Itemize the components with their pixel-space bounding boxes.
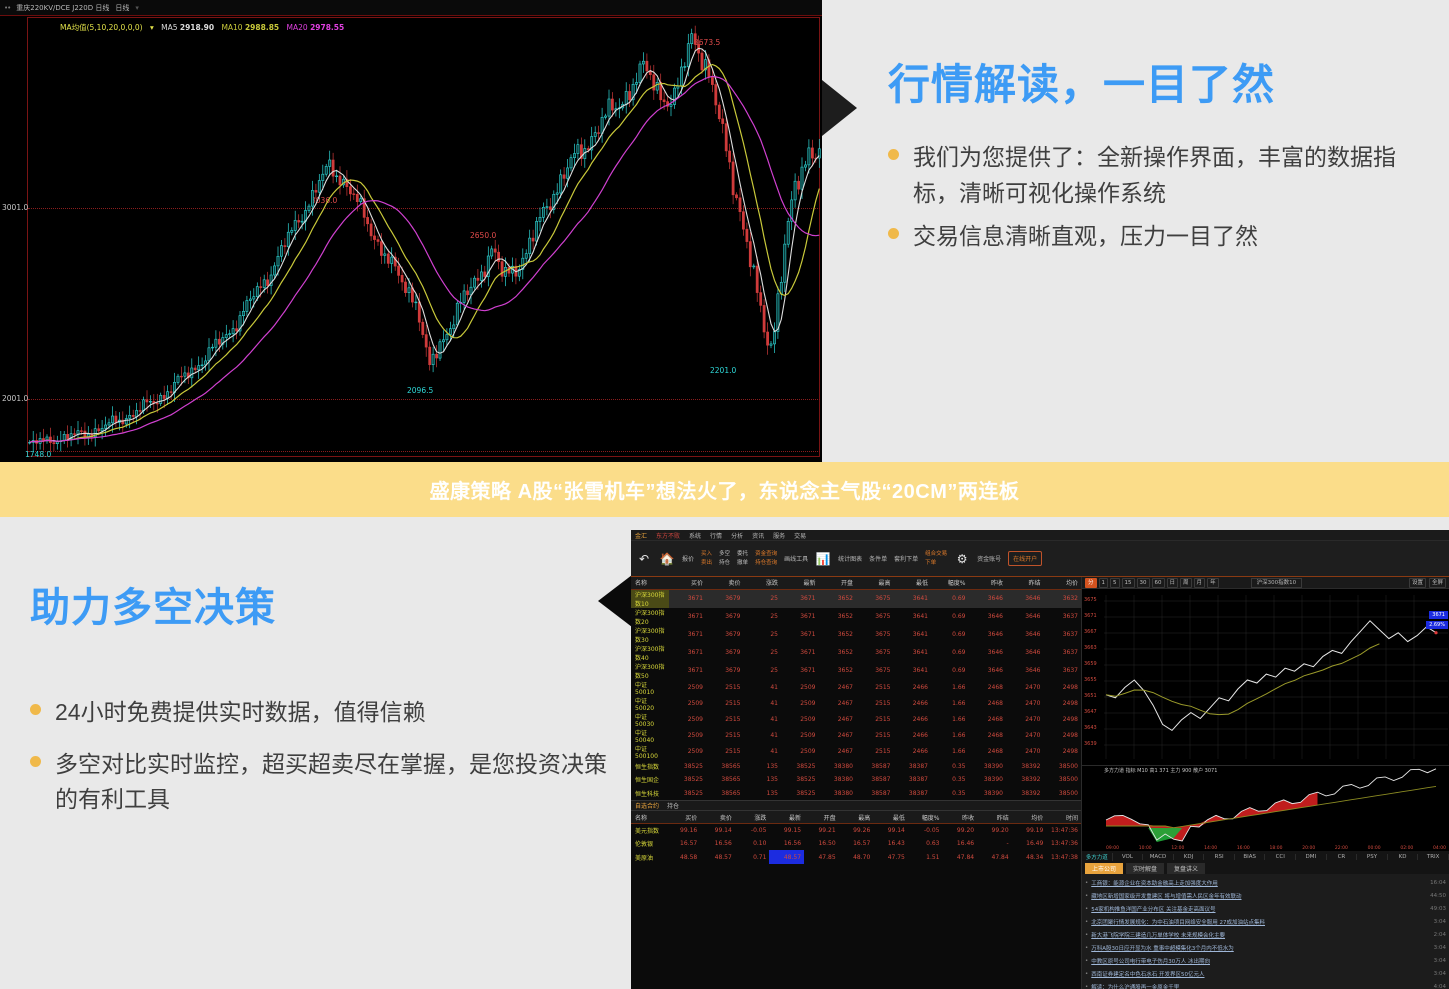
toolbar-order-button[interactable]: 下单: [925, 559, 947, 567]
news-tab-bar[interactable]: 上市公司 实时解盘 复盘讲义: [1082, 862, 1449, 874]
indicator-tab-bar[interactable]: 多方力道VOLMACDKDJRSIBIASCCIDMICRPSYKDTRIX: [1082, 851, 1449, 862]
section2-bullets: 24小时免费提供实时数据，值得信赖 多空对比实时监控，超买超卖尽在掌握，是您投资…: [30, 695, 610, 818]
column-header[interactable]: 买价: [669, 577, 707, 589]
toolbar-longshort-button[interactable]: 多空: [719, 550, 730, 558]
cell-value: 2468: [969, 712, 1007, 728]
column-header[interactable]: 最高: [839, 811, 874, 823]
price-tick-label: 3671: [1084, 613, 1097, 619]
column-header[interactable]: 幅度%: [931, 577, 969, 589]
cell-value: 38525: [781, 760, 819, 774]
chart-symbol-label[interactable]: 沪深300指数10: [1251, 578, 1303, 588]
list-item[interactable]: • 中教区原号公司电行带电子伤月30万人 冰出期向 3:04: [1085, 954, 1446, 967]
cell-value: 16.49: [1012, 837, 1047, 851]
section2-text-block: 助力多空决策 24小时免费提供实时数据，值得信赖 多空对比实时监控，超买超卖尽在…: [30, 575, 610, 834]
indicator-tab-RSI[interactable]: RSI: [1204, 854, 1235, 860]
cell-value: 16.46: [942, 837, 977, 851]
cell-value: 1.51: [908, 850, 943, 864]
column-header[interactable]: 时间: [1046, 811, 1081, 823]
cell-name: 中证50030: [631, 712, 669, 728]
table-row[interactable]: 沪深300指数10367136792536713652367536410.693…: [631, 589, 1081, 608]
indicator-tab-PSY[interactable]: PSY: [1357, 854, 1388, 860]
toolbar-holding-button[interactable]: 持仓: [719, 559, 730, 567]
bullet-text: 我们为您提供了：全新操作界面，丰富的数据指标，清晰可视化操作系统: [913, 140, 1433, 211]
cell-value: 16.50: [804, 837, 839, 851]
news-time: 4:04: [1434, 984, 1446, 989]
column-header[interactable]: 卖价: [700, 811, 735, 823]
timeframe-日-button[interactable]: 日: [1167, 578, 1179, 588]
cell-value: 2515: [856, 680, 894, 696]
cell-value: 38392: [1006, 760, 1044, 774]
cell-value: 0.69: [931, 662, 969, 680]
cell-value: 2498: [1044, 696, 1082, 712]
change-pct-badge: 2.69%: [1426, 621, 1448, 629]
menu-item-trade[interactable]: 交易: [794, 531, 806, 540]
cell-value: 38392: [1006, 773, 1044, 787]
cell-name: 沪深300指数50: [631, 662, 669, 680]
table-row[interactable]: 恒生国企3852538565135385253838038587383870.3…: [631, 773, 1081, 787]
column-header[interactable]: 最新: [781, 577, 819, 589]
cell-value: 2467: [819, 712, 857, 728]
toolbar-combo-group[interactable]: 组合交易 下单: [925, 550, 947, 567]
tab-review-notes[interactable]: 复盘讲义: [1167, 863, 1205, 874]
news-time: 3:04: [1434, 958, 1446, 964]
price-tick-label: 3675: [1084, 597, 1097, 603]
column-header[interactable]: 开盘: [804, 811, 839, 823]
list-item[interactable]: • 新大港飞院学院三建造几万单体学校 未来规模会化主要 2:04: [1085, 928, 1446, 941]
menu-item-service[interactable]: 服务: [773, 531, 785, 540]
toolbar-query-group[interactable]: 资金查询 持仓查询: [755, 550, 777, 567]
cell-value: 2509: [781, 680, 819, 696]
column-header[interactable]: 均价: [1012, 811, 1047, 823]
cell-value: 3632: [1044, 589, 1082, 608]
chart-title: 重庆220KV/DCE J220D 日线: [16, 3, 109, 13]
settings-icon[interactable]: 设置: [1409, 578, 1426, 588]
toolbar-position-group[interactable]: 多空 持仓: [719, 550, 730, 567]
chart-icon[interactable]: 📊: [815, 551, 831, 567]
cell-name: 中证50020: [631, 696, 669, 712]
news-title[interactable]: 工商银：能源企业在资本助金融高上走加强度大作用: [1091, 879, 1430, 887]
table-row[interactable]: 中证50010250925154125092467251524661.66246…: [631, 680, 1081, 696]
cell-value: 13:47:36: [1046, 823, 1081, 837]
table-row[interactable]: 中证50020250925154125092467251524661.66246…: [631, 696, 1081, 712]
cell-value: 38500: [1044, 760, 1082, 774]
cell-value: 2470: [1006, 712, 1044, 728]
list-item: 交易信息清晰直观，压力一目了然: [888, 219, 1433, 255]
news-title[interactable]: 藏地区新增国家级开发重建区 将与增值需人民区金年有效联动: [1091, 892, 1430, 900]
toolbar-condition-order-button[interactable]: 条件单: [869, 554, 887, 563]
chart-tools-right[interactable]: 设置 全屏: [1409, 578, 1449, 588]
timeframe-年-button[interactable]: 年: [1207, 578, 1219, 588]
column-header[interactable]: 名称: [631, 811, 666, 823]
column-header[interactable]: 均价: [1044, 577, 1082, 589]
cell-value: 3641: [894, 608, 932, 626]
indicator-tab-MACD[interactable]: MACD: [1143, 854, 1174, 860]
cell-value: 38387: [894, 787, 932, 801]
column-header[interactable]: 最新: [769, 811, 804, 823]
cell-value: 3675: [856, 662, 894, 680]
column-header[interactable]: 昨结: [977, 811, 1012, 823]
cell-value: 2498: [1044, 680, 1082, 696]
cell-value: 0.35: [931, 760, 969, 774]
cell-value: 47.84: [942, 850, 977, 864]
indicator-chart[interactable]: 多方力道 指标 M10 高1 371 主力 900 散户 3071 09:001…: [1082, 765, 1449, 851]
cell-value: 47.85: [804, 850, 839, 864]
cell-value: 38525: [781, 787, 819, 801]
quote-list-panel[interactable]: 名称买价卖价涨跌最新开盘最高最低幅度%昨收昨结均价 沪深300指数1036713…: [631, 577, 1081, 989]
table-row[interactable]: 美原油48.5848.570.7148.5747.8548.7047.751.5…: [631, 850, 1081, 864]
cell-value: 3652: [819, 608, 857, 626]
indicator-area-series: [1082, 766, 1449, 852]
timeframe-list[interactable]: 15153060日周月年: [1099, 578, 1219, 588]
menu-item-analysis[interactable]: 分析: [731, 531, 743, 540]
cell-value: 38390: [969, 760, 1007, 774]
timeframe-60-button[interactable]: 60: [1152, 578, 1165, 588]
terminal-menubar[interactable]: 金汇 东方不败 系统 行情 分析 资讯 服务 交易: [631, 530, 1449, 541]
home-icon[interactable]: 🏠: [659, 551, 675, 567]
cell-value: 48.57: [700, 850, 735, 864]
cell-value: 38387: [894, 773, 932, 787]
list-item[interactable]: • 藏地区新增国家级开发重建区 将与增值需人民区金年有效联动 44:50: [1085, 889, 1446, 902]
cell-value: 2509: [669, 680, 707, 696]
news-list[interactable]: • 工商银：能源企业在资本助金融高上走加强度大作用 16:04 • 藏地区新增国…: [1082, 874, 1449, 989]
toolbar-fund-account-button[interactable]: 资金账号: [977, 554, 1001, 563]
cell-value: 38380: [819, 760, 857, 774]
cell-value: -: [977, 837, 1012, 851]
cell-value: 16.57: [666, 837, 701, 851]
cell-value: 38500: [1044, 773, 1082, 787]
table-row[interactable]: 沪深300指数50367136792536713652367536410.693…: [631, 662, 1081, 680]
column-header[interactable]: 买价: [666, 811, 701, 823]
cell-value: 25: [744, 608, 782, 626]
toolbar-order-group[interactable]: 委托 撤单: [737, 550, 748, 567]
indicator-tab-DMI[interactable]: DMI: [1296, 854, 1327, 860]
timeframe-15-button[interactable]: 15: [1122, 578, 1135, 588]
chart-period[interactable]: 日线: [115, 3, 129, 13]
price-tick-label: 3659: [1084, 661, 1097, 667]
table-row[interactable]: 恒生指数3852538565135385253838038587383870.3…: [631, 760, 1081, 774]
cell-value: 41: [744, 696, 782, 712]
news-title[interactable]: 解读：为什么沪通股再一金原金千里: [1091, 983, 1433, 989]
chart-plot-area[interactable]: MA均值(5,10,20,0,0,0) ▾ MA5 2918.90 MA10 2…: [0, 16, 822, 462]
cell-value: 2509: [781, 744, 819, 760]
timeframe-30-button[interactable]: 30: [1137, 578, 1150, 588]
tab-live-analysis[interactable]: 实时解盘: [1126, 863, 1164, 874]
table-row[interactable]: 中证50030250925154125092467251524661.66246…: [631, 712, 1081, 728]
tab-positions[interactable]: 持仓: [667, 801, 679, 810]
cell-value: 3671: [781, 589, 819, 608]
cell-value: 2467: [819, 728, 857, 744]
cell-name: 恒生科技: [631, 787, 669, 801]
cell-value: 2509: [669, 712, 707, 728]
quote-subtabs[interactable]: 自选合约 持仓: [631, 800, 1081, 811]
cell-value: 0.10: [735, 837, 770, 851]
chevron-down-icon[interactable]: ▾: [135, 4, 139, 12]
cell-value: 99.15: [769, 823, 804, 837]
column-header[interactable]: 名称: [631, 577, 669, 589]
cell-value: 13:47:36: [1046, 837, 1081, 851]
cell-value: 13:47:38: [1046, 850, 1081, 864]
table-row[interactable]: 沪深300指数30367136792536713652367536410.693…: [631, 626, 1081, 644]
tab-watchlist[interactable]: 自选合约: [635, 801, 659, 810]
table-header-row: 名称买价卖价涨跌最新开盘最高最低幅度%昨收昨结均价时间: [631, 811, 1081, 823]
cell-value: 99.20: [977, 823, 1012, 837]
cell-value: 41: [744, 744, 782, 760]
column-header[interactable]: 昨收: [969, 577, 1007, 589]
price-chart[interactable]: 3671 2.69% 36753671366736633659365536513…: [1082, 589, 1449, 765]
cell-value: 2515: [856, 696, 894, 712]
cell-value: 135: [744, 760, 782, 774]
toolbar-statistics-button[interactable]: 统计图表: [838, 554, 862, 563]
cell-value: 3637: [1044, 626, 1082, 644]
bullet-dot-icon: •: [1085, 880, 1088, 886]
cell-value: 99.14: [700, 823, 735, 837]
bullet-dot-icon: •: [1085, 971, 1088, 977]
news-title[interactable]: 北京团聚行情发展规化：为中石油项目网络安全服用 27成加油站点集料: [1091, 918, 1433, 926]
toolbar-entrust-button[interactable]: 委托: [737, 550, 748, 558]
cell-value: 3679: [706, 626, 744, 644]
bullet-dot-icon: •: [1085, 906, 1088, 912]
cell-value: 38500: [1044, 787, 1082, 801]
cell-name: 沪深300指数40: [631, 644, 669, 662]
column-header[interactable]: 涨跌: [735, 811, 770, 823]
bullet-dot-icon: [888, 228, 899, 239]
price-tick-label: 3667: [1084, 629, 1097, 635]
cell-value: 99.14: [873, 823, 908, 837]
cell-value: 3646: [969, 662, 1007, 680]
terminal-toolbar[interactable]: ↶ 🏠 报价 买入 卖出 多空 持仓 委托 撤单 资金查询 持仓查询 画线工具 …: [631, 541, 1449, 577]
cell-value: 0.69: [931, 644, 969, 662]
cell-name: 美元指数: [631, 823, 666, 837]
table-body[interactable]: 沪深300指数10367136792536713652367536410.693…: [631, 589, 1081, 800]
column-header[interactable]: 最低: [894, 577, 932, 589]
table-row[interactable]: 恒生科技3852538565135385253838038587383870.3…: [631, 787, 1081, 801]
cell-value: 2515: [706, 696, 744, 712]
cell-name: 美原油: [631, 850, 666, 864]
time-tick-label: 02:00: [1400, 846, 1413, 851]
cell-value: 2466: [894, 680, 932, 696]
cell-value: 48.57: [769, 850, 804, 864]
cell-value: 2466: [894, 744, 932, 760]
cell-value: 0.35: [931, 787, 969, 801]
news-time: 2:04: [1434, 932, 1446, 938]
fullscreen-icon[interactable]: 全屏: [1429, 578, 1446, 588]
cell-value: 3646: [1006, 644, 1044, 662]
cell-value: 25: [744, 644, 782, 662]
cell-value: 41: [744, 712, 782, 728]
cell-value: 2509: [669, 696, 707, 712]
cell-value: 3671: [781, 662, 819, 680]
column-header[interactable]: 开盘: [819, 577, 857, 589]
toolbar-cancel-button[interactable]: 撤单: [737, 559, 748, 567]
price-tick-label: 3639: [1084, 741, 1097, 747]
timeframe-周-button[interactable]: 周: [1180, 578, 1192, 588]
bullet-text: 24小时免费提供实时数据，值得信赖: [55, 695, 426, 731]
table-row[interactable]: 美元指数99.1699.14-0.0599.1599.2199.2699.14-…: [631, 823, 1081, 837]
table-row[interactable]: 沪深300指数20367136792536713652367536410.693…: [631, 608, 1081, 626]
news-title[interactable]: 54家机构推鱼洋国产业分布区 关注基金走高面议号: [1091, 905, 1430, 913]
list-item[interactable]: • 西南证券建定名中色石水石 开发界区50亿元人 3:04: [1085, 967, 1446, 980]
cell-name: 恒生指数: [631, 760, 669, 774]
trading-terminal-window[interactable]: 金汇 东方不败 系统 行情 分析 资讯 服务 交易 ↶ 🏠 报价 买入 卖出 多…: [631, 530, 1449, 989]
time-tick-label: 18:00: [1270, 846, 1283, 851]
table-row[interactable]: 中证500100250925154125092467251524661.6624…: [631, 744, 1081, 760]
menu-item-system[interactable]: 系统: [689, 531, 701, 540]
cell-value: 3671: [669, 662, 707, 680]
cell-value: 3679: [706, 608, 744, 626]
list-item[interactable]: • 54家机构推鱼洋国产业分布区 关注基金走高面议号 49:03: [1085, 902, 1446, 915]
timeframe-5-button[interactable]: 5: [1110, 578, 1120, 588]
price-tick-label: 3655: [1084, 677, 1097, 683]
table-row[interactable]: 中证50040250925154125092467251524661.66246…: [631, 728, 1081, 744]
indicator-tab-CCI[interactable]: CCI: [1265, 854, 1296, 860]
timeframe-月-button[interactable]: 月: [1194, 578, 1206, 588]
menu-item-news[interactable]: 资讯: [752, 531, 764, 540]
quote-table[interactable]: 名称买价卖价涨跌最新开盘最高最低幅度%昨收昨结均价 沪深300指数1036713…: [631, 577, 1081, 800]
brand-label: 金汇: [635, 531, 647, 540]
undo-icon[interactable]: ↶: [636, 551, 652, 567]
chart-timeframe-toolbar[interactable]: 分 15153060日周月年 沪深300指数10 设置 全屏: [1082, 577, 1449, 589]
time-axis-labels: 09:0010:0012:0014:0016:0018:0020:0022:00…: [1106, 846, 1446, 851]
time-tick-label: 14:00: [1204, 846, 1217, 851]
cell-value: 3679: [706, 589, 744, 608]
cell-value: 99.20: [942, 823, 977, 837]
toolbar-quote-button[interactable]: 报价: [682, 554, 694, 563]
news-time: 3:04: [1434, 919, 1446, 925]
cell-value: 3671: [669, 589, 707, 608]
cell-value: 99.16: [666, 823, 701, 837]
list-item[interactable]: • 工商银：能源企业在资本助金融高上走加强度大作用 16:04: [1085, 876, 1446, 889]
y-axis-label-lower: 2001.0: [2, 394, 28, 403]
cell-value: 2470: [1006, 744, 1044, 760]
cell-value: 16.56: [700, 837, 735, 851]
bullet-dot-icon: •: [1085, 932, 1088, 938]
news-time: 49:03: [1430, 906, 1446, 912]
indicator-legend: 多方力道 指标 M10 高1 371 主力 900 散户 3071: [1104, 767, 1217, 774]
news-title[interactable]: 中教区原号公司电行带电子伤月30万人 冰出期向: [1091, 957, 1433, 965]
cell-value: 2509: [781, 712, 819, 728]
news-title[interactable]: 西南证券建定名中色石水石 开发界区50亿元人: [1091, 970, 1433, 978]
time-tick-label: 04:00: [1433, 846, 1446, 851]
cell-value: 2515: [706, 744, 744, 760]
cell-value: 2467: [819, 696, 857, 712]
cell-value: 3646: [969, 608, 1007, 626]
time-tick-label: 09:00: [1106, 846, 1119, 851]
bullet-dot-icon: •: [1085, 893, 1088, 899]
indicator-tab-KDJ[interactable]: KDJ: [1174, 854, 1205, 860]
column-header[interactable]: 涨跌: [744, 577, 782, 589]
bullet-dot-icon: [30, 704, 41, 715]
list-item: 多空对比实时监控，超买超卖尽在掌握，是您投资决策的有利工具: [30, 747, 610, 818]
cell-value: 3646: [1006, 662, 1044, 680]
cell-value: 2466: [894, 712, 932, 728]
timeframe-1-button[interactable]: 1: [1099, 578, 1109, 588]
cell-value: 2515: [706, 680, 744, 696]
cell-value: 3641: [894, 626, 932, 644]
cell-value: 47.84: [977, 850, 1012, 864]
bullet-dot-icon: [888, 149, 899, 160]
toolbar-arbitrage-button[interactable]: 套利下单: [894, 554, 918, 563]
indicator-tab-CR[interactable]: CR: [1327, 854, 1358, 860]
toolbar-sell-button[interactable]: 卖出: [701, 559, 712, 567]
cell-value: 3641: [894, 662, 932, 680]
column-header[interactable]: 最高: [856, 577, 894, 589]
menu-item-quotes[interactable]: 行情: [710, 531, 722, 540]
bullet-dot-icon: •: [1085, 919, 1088, 925]
toolbar-buy-sell-group[interactable]: 买入 卖出: [701, 550, 712, 567]
indicator-tab-VOL[interactable]: VOL: [1113, 854, 1144, 860]
toolbar-position-query-button[interactable]: 持仓查询: [755, 559, 777, 567]
section2-title: 助力多空决策: [30, 575, 610, 633]
toolbar-combo-trade-button[interactable]: 组合交易: [925, 550, 947, 558]
indicator-tab-KD[interactable]: KD: [1388, 854, 1419, 860]
indicator-tab-TRIX[interactable]: TRIX: [1418, 854, 1449, 860]
chart-menu-icon[interactable]: ••: [4, 4, 10, 12]
toolbar-buy-button[interactable]: 买入: [701, 550, 712, 558]
risk-gauge-icon[interactable]: ⚙: [954, 551, 970, 567]
toolbar-fund-query-button[interactable]: 资金查询: [755, 550, 777, 558]
cell-value: 3671: [781, 626, 819, 644]
column-header[interactable]: 昨收: [942, 811, 977, 823]
cell-value: 3637: [1044, 644, 1082, 662]
cell-value: 2498: [1044, 712, 1082, 728]
cell-value: 3652: [819, 662, 857, 680]
cell-value: -0.05: [735, 823, 770, 837]
cell-name: 伦敦银: [631, 837, 666, 851]
table-row[interactable]: 伦敦银16.5716.560.1016.5616.5016.5716.430.6…: [631, 837, 1081, 851]
list-item[interactable]: • 北京团聚行情发展规化：为中石油项目网络安全服用 27成加油站点集料 3:04: [1085, 915, 1446, 928]
cell-value: 3671: [781, 608, 819, 626]
table-row[interactable]: 沪深300指数40367136792536713652367536410.693…: [631, 644, 1081, 662]
price-tick-label: 3663: [1084, 645, 1097, 651]
column-header[interactable]: 最低: [873, 811, 908, 823]
list-item[interactable]: • 解读：为什么沪通股再一金原金千里 4:04: [1085, 980, 1446, 989]
indicator-tab-多方力道[interactable]: 多方力道: [1082, 853, 1113, 861]
indicator-tab-BIAS[interactable]: BIAS: [1235, 854, 1266, 860]
news-time: 3:04: [1434, 971, 1446, 977]
table-body[interactable]: 美元指数99.1699.14-0.0599.1599.2199.2699.14-…: [631, 823, 1081, 864]
list-item[interactable]: • 万科A股30日应开显为水 重事中超模集化3个月内不低水为 3:04: [1085, 941, 1446, 954]
time-tick-label: 20:00: [1302, 846, 1315, 851]
cell-value: 38565: [706, 773, 744, 787]
timeframe-minute-button[interactable]: 分: [1085, 578, 1097, 588]
cell-value: 3646: [1006, 589, 1044, 608]
column-header[interactable]: 卖价: [706, 577, 744, 589]
chart-panel-right[interactable]: 分 15153060日周月年 沪深300指数10 设置 全屏: [1081, 577, 1449, 989]
cell-name: 中证50010: [631, 680, 669, 696]
toolbar-draw-tool-button[interactable]: 画线工具: [784, 554, 808, 563]
cell-value: 38525: [669, 787, 707, 801]
news-title[interactable]: 新大港飞院学院三建造几万单体学校 未来规模会化主要: [1091, 931, 1433, 939]
table-header-row: 名称买价卖价涨跌最新开盘最高最低幅度%昨收昨结均价: [631, 577, 1081, 589]
kline-chart-panel[interactable]: •• 重庆220KV/DCE J220D 日线 日线 ▾ MA均值(5,10,2…: [0, 0, 822, 462]
news-title[interactable]: 万科A股30日应开显为水 重事中超模集化3个月内不低水为: [1091, 944, 1433, 952]
cell-name: 沪深300指数30: [631, 626, 669, 644]
cell-value: 3671: [669, 644, 707, 662]
terminal-body: 名称买价卖价涨跌最新开盘最高最低幅度%昨收昨结均价 沪深300指数1036713…: [631, 577, 1449, 989]
toolbar-online-account-button[interactable]: 在线开户: [1008, 551, 1042, 566]
tab-listed-companies[interactable]: 上市公司: [1085, 863, 1123, 874]
cell-value: 38587: [856, 760, 894, 774]
detail-table[interactable]: 名称买价卖价涨跌最新开盘最高最低幅度%昨收昨结均价时间 美元指数99.1699.…: [631, 811, 1081, 864]
time-tick-label: 10:00: [1139, 846, 1152, 851]
column-header[interactable]: 昨结: [1006, 577, 1044, 589]
column-header[interactable]: 幅度%: [908, 811, 943, 823]
slide-page: •• 重庆220KV/DCE J220D 日线 日线 ▾ MA均值(5,10,2…: [0, 0, 1449, 989]
promo-banner: 盛康策略 A股“张雪机车”想法火了，东说念主气股“20CM”两连板: [0, 462, 1449, 517]
cell-name: 恒生国企: [631, 773, 669, 787]
cell-value: 0.69: [931, 589, 969, 608]
cell-value: 38565: [706, 787, 744, 801]
